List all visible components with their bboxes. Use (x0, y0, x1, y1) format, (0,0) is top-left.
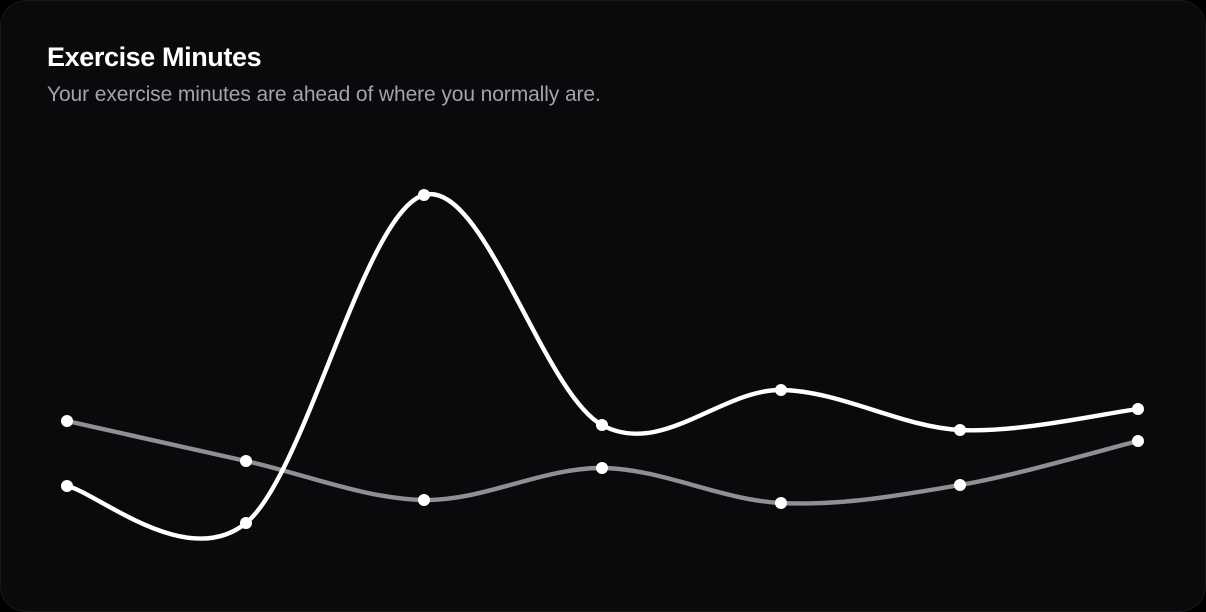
data-point-marker[interactable] (418, 494, 430, 506)
data-point-marker[interactable] (418, 189, 430, 201)
data-point-marker[interactable] (240, 517, 252, 529)
data-point-marker[interactable] (596, 462, 608, 474)
data-point-marker[interactable] (1132, 403, 1144, 415)
data-point-marker[interactable] (1132, 435, 1144, 447)
series-current-line (67, 194, 1138, 539)
data-point-marker[interactable] (596, 419, 608, 431)
data-point-marker[interactable] (954, 424, 966, 436)
data-point-marker[interactable] (61, 415, 73, 427)
data-point-marker[interactable] (775, 384, 787, 396)
line-chart-svg (0, 0, 1206, 612)
series-current-markers (61, 189, 1144, 529)
data-point-marker[interactable] (775, 497, 787, 509)
data-point-marker[interactable] (61, 480, 73, 492)
exercise-minutes-card: Exercise Minutes Your exercise minutes a… (0, 0, 1206, 612)
chart-plot-area (0, 0, 1206, 612)
series-current (61, 189, 1144, 539)
data-point-marker[interactable] (954, 479, 966, 491)
data-point-marker[interactable] (240, 455, 252, 467)
